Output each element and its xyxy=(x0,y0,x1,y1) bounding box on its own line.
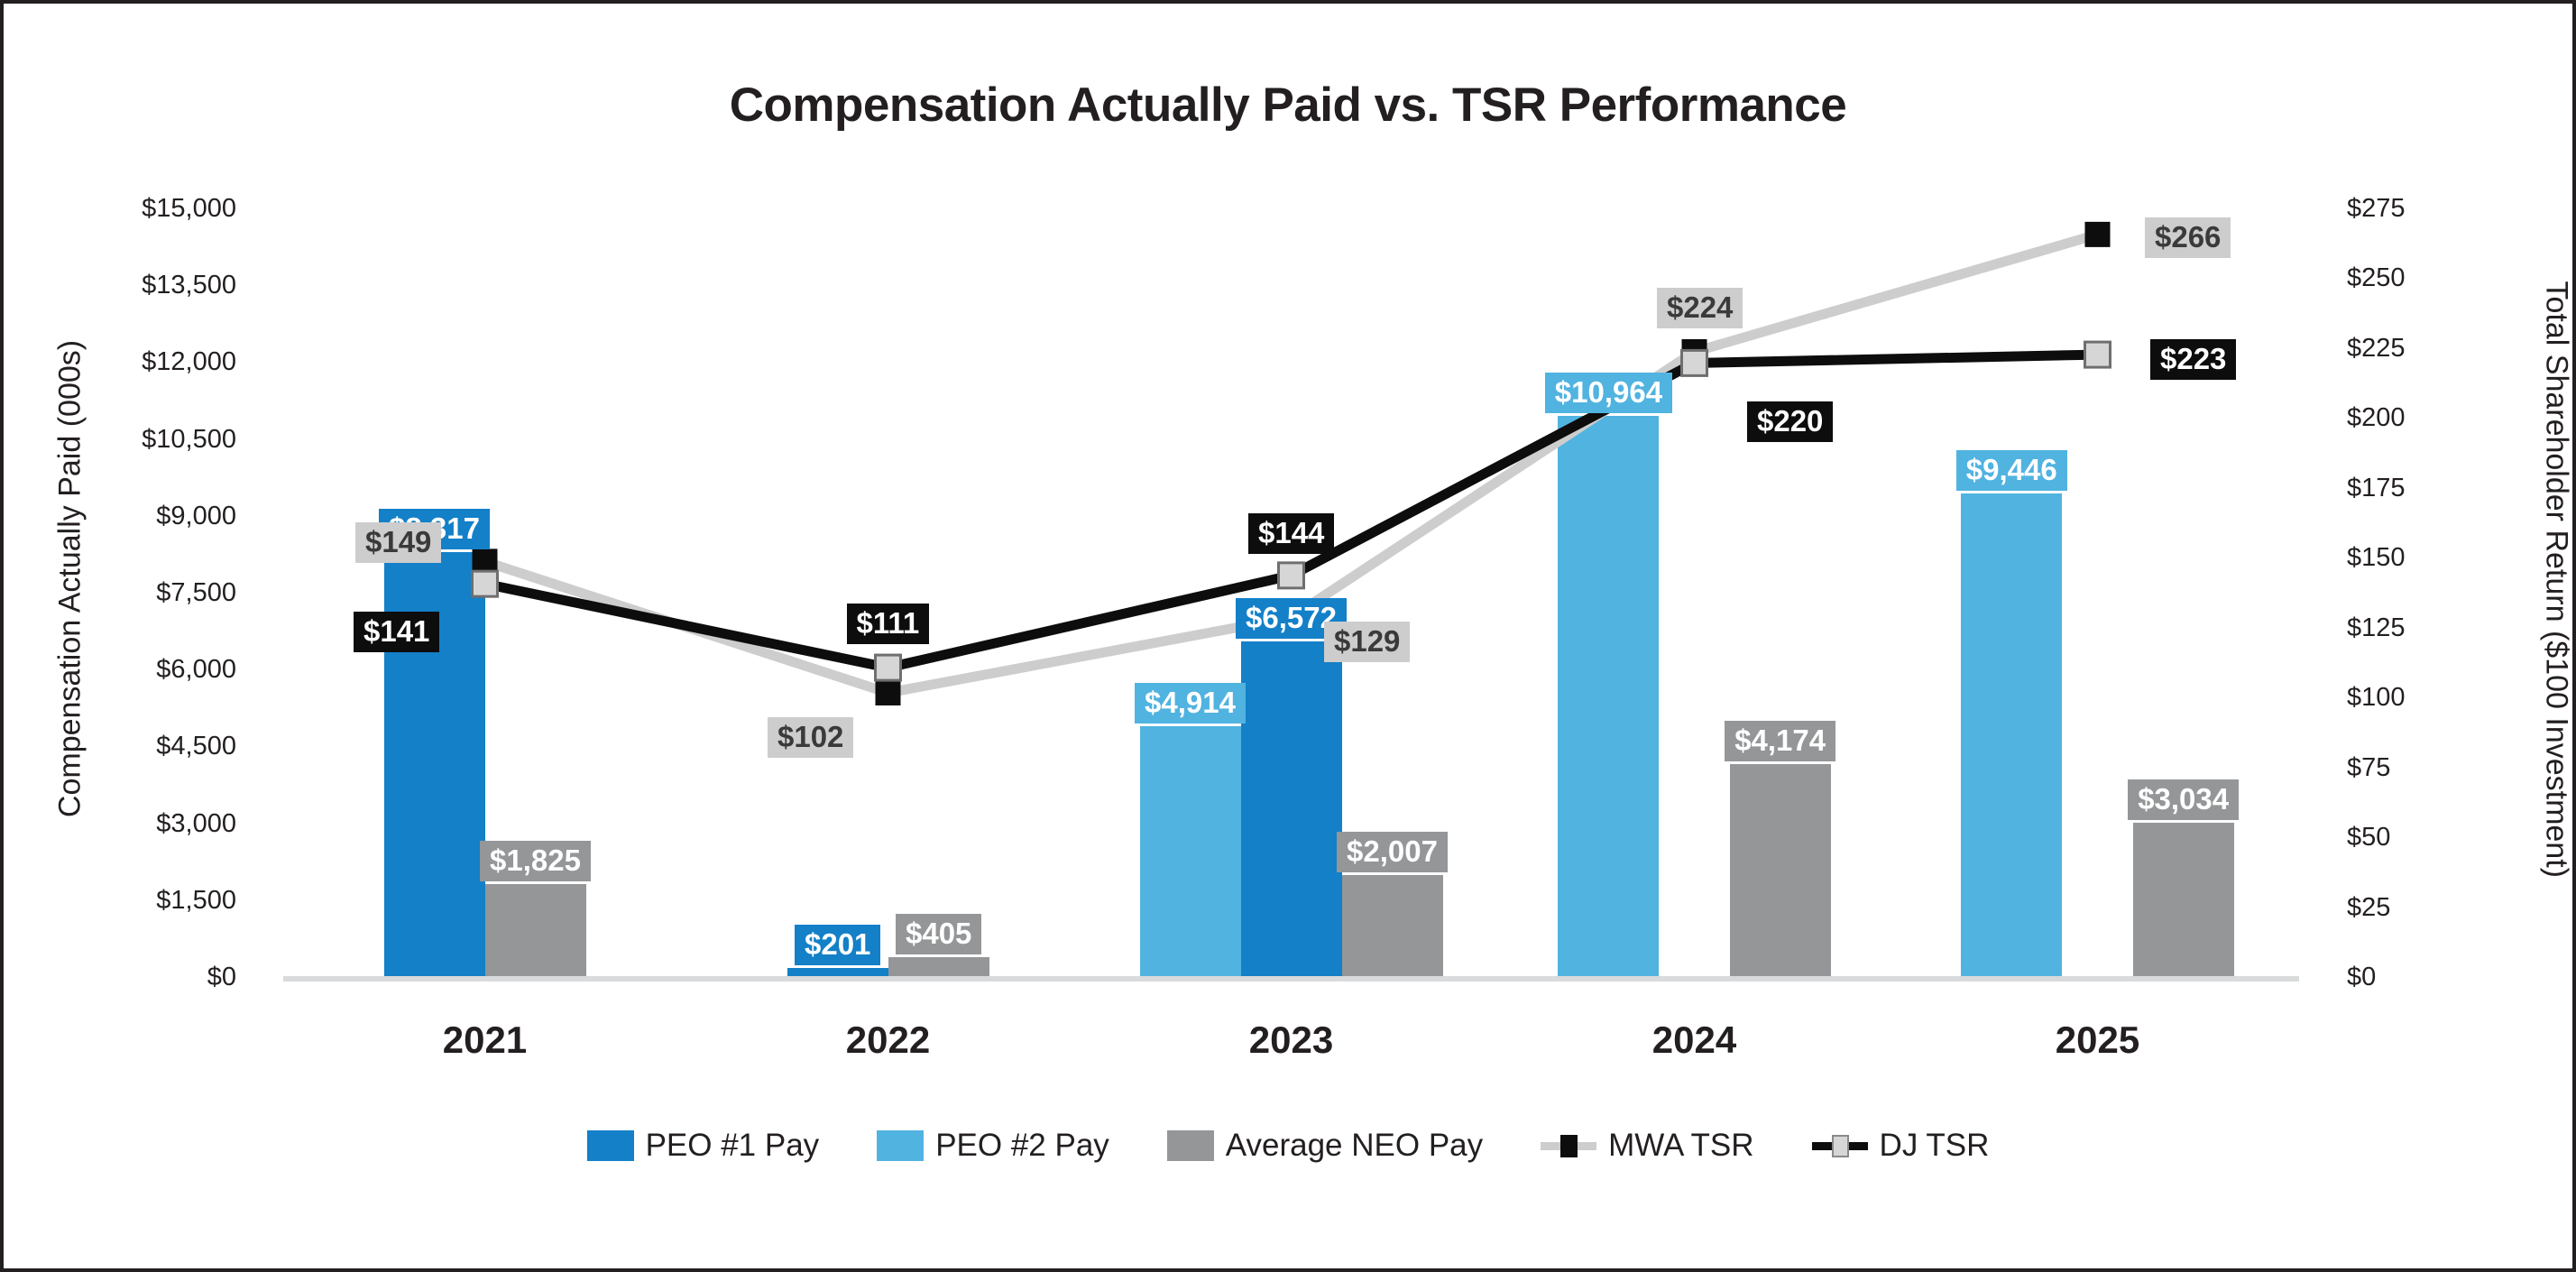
chart-legend: PEO #1 PayPEO #2 PayAverage NEO PayMWA T… xyxy=(4,1128,2572,1164)
tsr-label-mwa-2024: $224 xyxy=(1657,288,1743,328)
marker-mwa-2025[interactable] xyxy=(2085,222,2111,247)
tsr-label-mwa-2025: $266 xyxy=(2145,217,2231,258)
tsr-label-dj-2025: $223 xyxy=(2150,339,2236,380)
bar-label-neo-2021: $1,825 xyxy=(480,841,591,881)
tsr-label-dj-2024: $220 xyxy=(1747,401,1833,442)
bar-label-peo2-2025: $9,446 xyxy=(1956,450,2067,491)
y-axis-left-title: Compensation Actually Paid (000s) xyxy=(53,281,88,877)
marker-dj-2021[interactable] xyxy=(473,571,498,596)
x-axis-label-2023: 2023 xyxy=(1156,1019,1427,1062)
x-axis-label-2024: 2024 xyxy=(1559,1019,1830,1062)
legend-item-peo1[interactable]: PEO #1 Pay xyxy=(587,1128,820,1164)
bar-label-neo-2024: $4,174 xyxy=(1725,721,1835,761)
legend-item-mwa[interactable]: MWA TSR xyxy=(1541,1128,1753,1164)
tsr-label-dj-2021: $141 xyxy=(354,612,439,652)
marker-dj-2022[interactable] xyxy=(876,655,901,680)
y-axis-right-title: Total Shareholder Return ($100 Investmen… xyxy=(2539,281,2574,877)
legend-line-marker-icon xyxy=(1832,1135,1849,1157)
legend-line-icon-dj xyxy=(1812,1130,1868,1161)
bar-label-peo2-2024: $10,964 xyxy=(1545,373,1672,413)
legend-label: PEO #2 Pay xyxy=(935,1128,1109,1164)
tsr-label-mwa-2022: $102 xyxy=(768,717,853,758)
tsr-label-dj-2023: $144 xyxy=(1248,513,1334,554)
legend-label: Average NEO Pay xyxy=(1226,1128,1483,1164)
legend-label: DJ TSR xyxy=(1880,1128,1990,1164)
marker-dj-2025[interactable] xyxy=(2085,342,2111,367)
chart-canvas: Compensation Actually Paid vs. TSR Perfo… xyxy=(0,0,2576,1272)
tsr-label-mwa-2021: $149 xyxy=(355,522,441,563)
marker-mwa-2022[interactable] xyxy=(876,680,901,705)
bar-label-peo1-2022: $201 xyxy=(795,925,880,965)
legend-line-icon-mwa xyxy=(1541,1130,1596,1161)
legend-item-peo2[interactable]: PEO #2 Pay xyxy=(877,1128,1109,1164)
legend-item-neo[interactable]: Average NEO Pay xyxy=(1167,1128,1483,1164)
x-axis-label-2025: 2025 xyxy=(1963,1019,2233,1062)
chart-title: Compensation Actually Paid vs. TSR Perfo… xyxy=(4,78,2572,133)
legend-line-marker-icon xyxy=(1560,1135,1578,1157)
legend-swatch-icon-peo1 xyxy=(587,1130,634,1161)
x-axis-label-2022: 2022 xyxy=(753,1019,1024,1062)
legend-label: MWA TSR xyxy=(1608,1128,1753,1164)
marker-dj-2024[interactable] xyxy=(1682,350,1707,375)
legend-item-dj[interactable]: DJ TSR xyxy=(1812,1128,1990,1164)
x-axis-baseline xyxy=(283,976,2299,982)
bar-label-neo-2025: $3,034 xyxy=(2128,779,2239,820)
bar-label-neo-2022: $405 xyxy=(896,914,981,954)
bar-label-neo-2023: $2,007 xyxy=(1337,832,1448,872)
legend-swatch-icon-neo xyxy=(1167,1130,1214,1161)
legend-swatch-icon-peo2 xyxy=(877,1130,924,1161)
legend-label: PEO #1 Pay xyxy=(646,1128,820,1164)
tsr-label-dj-2022: $111 xyxy=(847,604,930,644)
x-axis-label-2021: 2021 xyxy=(350,1019,621,1062)
tsr-label-mwa-2023: $129 xyxy=(1324,622,1410,662)
marker-dj-2023[interactable] xyxy=(1279,563,1304,588)
bar-label-peo2-2023: $4,914 xyxy=(1135,683,1246,724)
